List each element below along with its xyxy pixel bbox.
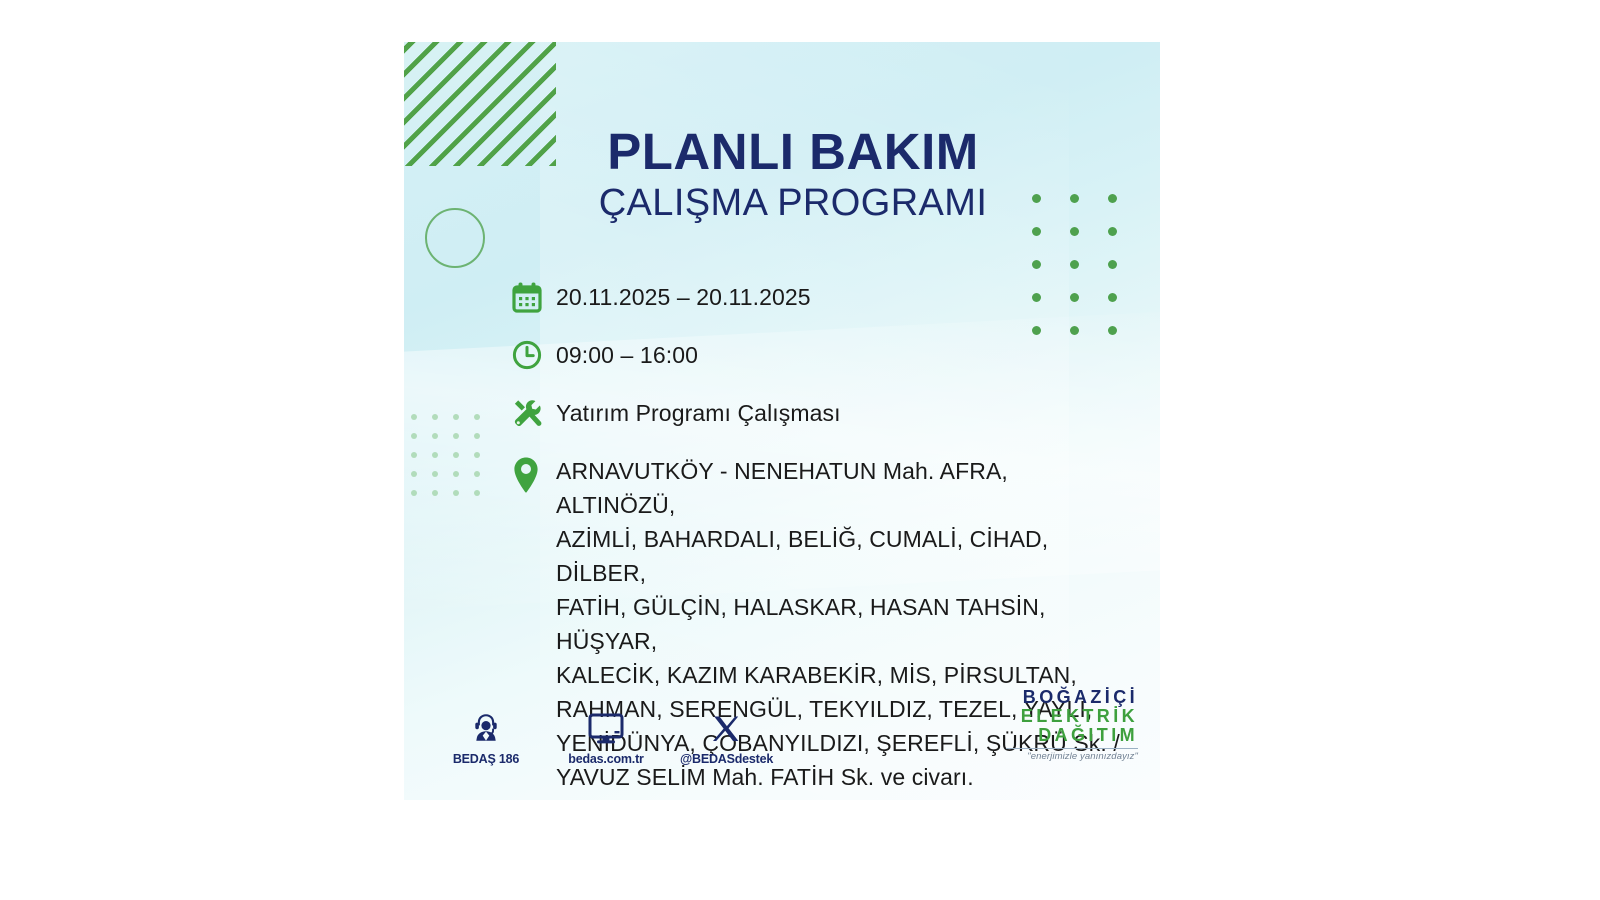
contact-x-label: @BEDASdestek xyxy=(680,752,772,766)
contact-website-label: bedas.com.tr xyxy=(560,752,652,766)
brand-divider xyxy=(1006,748,1138,749)
contact-channels: BEDAŞ 186 bedas.com.tr xyxy=(440,705,772,766)
poster-heading: PLANLI BAKIM ÇALIŞMA PROGRAMI xyxy=(404,126,1160,224)
contact-website[interactable]: bedas.com.tr xyxy=(560,705,652,766)
time-range-value: 09:00 – 16:00 xyxy=(556,338,698,372)
map-pin-icon xyxy=(512,454,556,490)
contact-phone[interactable]: BEDAŞ 186 xyxy=(440,705,532,766)
dot-grid-decoration-left xyxy=(411,414,495,509)
tools-icon xyxy=(512,396,556,430)
contact-phone-label: BEDAŞ 186 xyxy=(440,752,532,766)
monitor-icon xyxy=(560,705,652,745)
page-title: PLANLI BAKIM xyxy=(404,126,1160,178)
brand-line-elektrik: ELEKTRİK xyxy=(1006,707,1138,726)
detail-row-work-type: Yatırım Programı Çalışması xyxy=(512,396,1132,430)
x-twitter-icon xyxy=(680,705,772,745)
detail-row-time: 09:00 – 16:00 xyxy=(512,338,1132,372)
detail-row-date: 20.11.2025 – 20.11.2025 xyxy=(512,280,1132,314)
call-center-agent-icon xyxy=(440,705,532,745)
calendar-icon xyxy=(512,280,556,314)
clock-icon xyxy=(512,338,556,372)
screenshot-canvas: PLANLI BAKIM ÇALIŞMA PROGRAMI xyxy=(0,0,1600,900)
page-subtitle: ÇALIŞMA PROGRAMI xyxy=(404,184,1160,224)
planned-maintenance-poster: PLANLI BAKIM ÇALIŞMA PROGRAMI xyxy=(404,42,1160,800)
brand-line-bogazici: BOĞAZİÇİ xyxy=(1006,688,1138,707)
work-type-value: Yatırım Programı Çalışması xyxy=(556,396,841,430)
brand-tagline: "enerjimizle yanınızdayız" xyxy=(1006,751,1138,762)
date-range-value: 20.11.2025 – 20.11.2025 xyxy=(556,280,811,314)
bedas-logo: BOĞAZİÇİ ELEKTRİK DAĞITIM "enerjimizle y… xyxy=(1006,688,1138,762)
brand-line-dagitim: DAĞITIM xyxy=(1006,726,1138,745)
poster-footer: BEDAŞ 186 bedas.com.tr xyxy=(404,674,1160,784)
contact-x-account[interactable]: @BEDASdestek xyxy=(680,705,772,766)
